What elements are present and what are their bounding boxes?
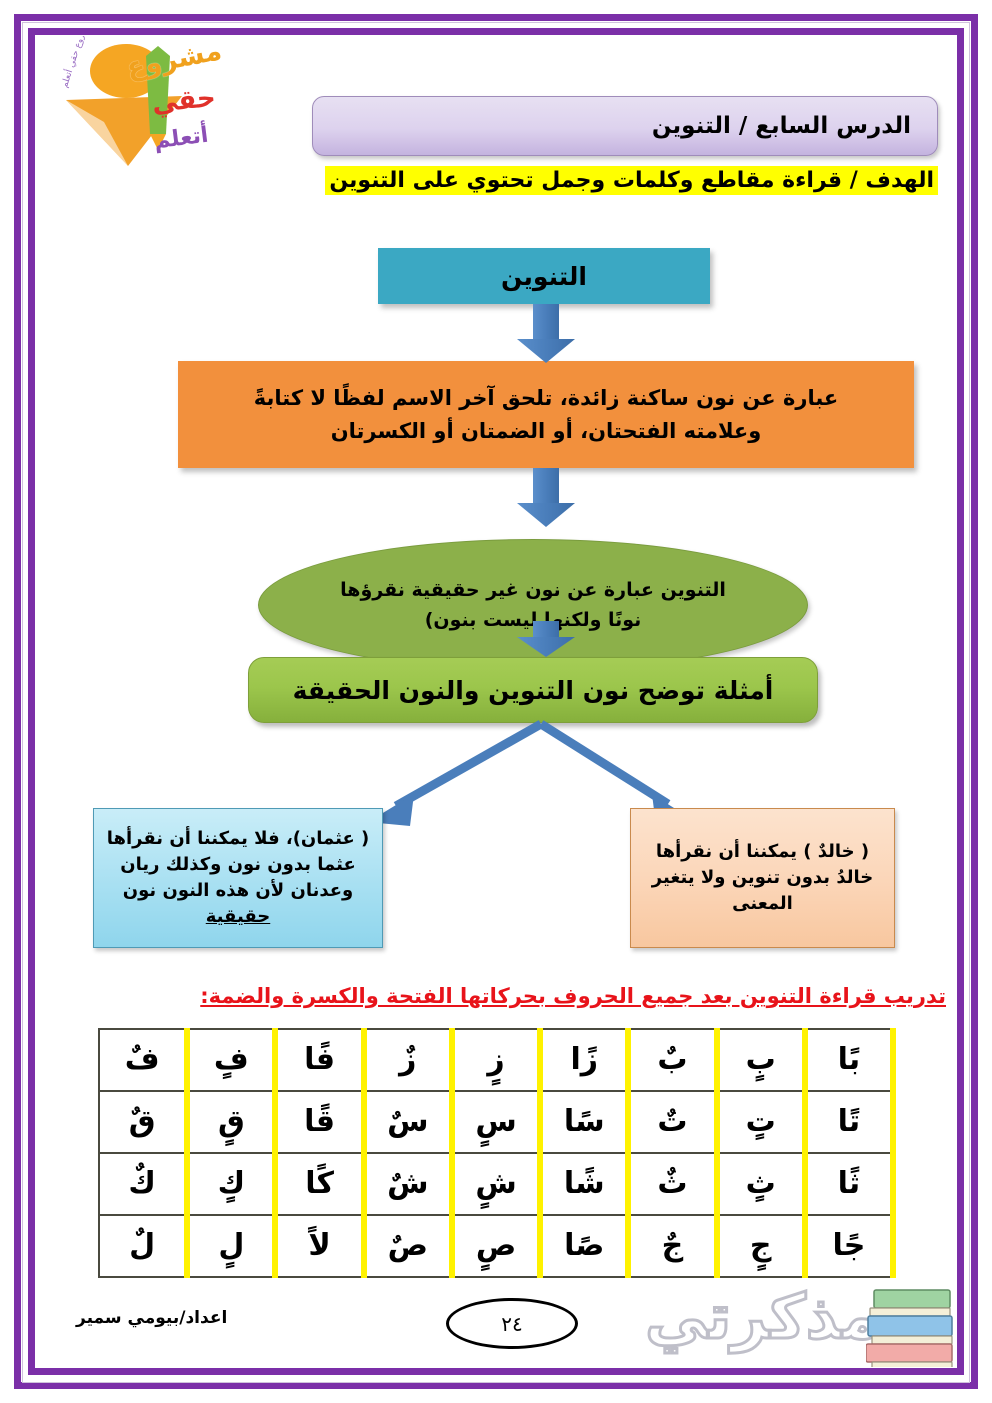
table-cell: بٍ — [717, 1029, 805, 1091]
example-left-line-2: عثما بدون نون وكذلك ريان — [120, 852, 355, 878]
table-cell: قٌ — [99, 1091, 187, 1153]
table-cell: جًا — [805, 1215, 893, 1277]
table-cell: قًا — [275, 1091, 363, 1153]
example-left-line-1: ( عثمان)، فلا يمكننا أن نقرأها — [107, 826, 370, 852]
letter-glyph: بٍ — [746, 1045, 776, 1075]
table-cell: فٌ — [99, 1029, 187, 1091]
books-stack-icon — [866, 1284, 956, 1367]
table-cell: صٌ — [364, 1215, 452, 1277]
watermark: مذكرتي — [656, 1274, 956, 1367]
example-left-line-3: وعدنان لأن هذه النون نون — [123, 878, 353, 904]
table-cell: سٌ — [364, 1091, 452, 1153]
arrow-down-2 — [517, 468, 575, 527]
letter-glyph: زٍ — [487, 1045, 504, 1075]
letter-glyph: شٍ — [475, 1169, 516, 1199]
letter-glyph: بٌ — [657, 1045, 687, 1075]
table-cell: فٍ — [187, 1029, 275, 1091]
letter-glyph: سًا — [564, 1107, 605, 1137]
letter-glyph: فٍ — [214, 1045, 249, 1075]
example-box-real-noon: ( عثمان)، فلا يمكننا أن نقرأها عثما بدون… — [93, 808, 383, 948]
ellipse-line-1: التنوين عبارة عن نون غير حقيقية نقرؤها — [340, 575, 726, 605]
flow-header-label: التنوين — [501, 262, 587, 291]
page-content: مشروع حقي أتعلم مشروع حقي أتعلم الدرس ال… — [36, 36, 956, 1367]
table-cell: زٍ — [452, 1029, 540, 1091]
letter-glyph: زًا — [570, 1045, 598, 1075]
letter-glyph: جٌ — [662, 1231, 684, 1261]
letter-glyph: تٌ — [657, 1107, 687, 1137]
example-right-line-2: خالدُ بدون تنوين ولا يتغير — [652, 865, 873, 891]
table-cell: كٍ — [187, 1153, 275, 1215]
table-cell: كٌ — [99, 1153, 187, 1215]
letter-glyph: صٌ — [388, 1231, 428, 1261]
table-cell: شًا — [540, 1153, 628, 1215]
tanween-practice-table: بًا بٍ بٌ زًا زٍ زٌ فًا فٍ فٌ تًا تٍ تٌ … — [98, 1028, 896, 1278]
letter-glyph: كٍ — [218, 1169, 246, 1199]
table-cell: زًا — [540, 1029, 628, 1091]
letter-glyph: لٌ — [129, 1231, 155, 1261]
table-cell: بٌ — [628, 1029, 716, 1091]
letter-glyph: تًا — [838, 1107, 861, 1137]
table-cell: لاً — [275, 1215, 363, 1277]
table-cell: تٌ — [628, 1091, 716, 1153]
table-cell: ثًا — [805, 1153, 893, 1215]
table-cell: ثٍ — [717, 1153, 805, 1215]
letter-glyph: زٌ — [399, 1045, 416, 1075]
table-row: ثًا ثٍ ثٌ شًا شٍ شٌ كًا كٍ كٌ — [99, 1153, 893, 1215]
table-cell: بًا — [805, 1029, 893, 1091]
example-right-line-1: ( خالدٌ ) يمكننا أن نقرأها — [656, 839, 869, 865]
lesson-title-text: الدرس السابع / التنوين — [652, 113, 911, 139]
example-box-tanween: ( خالدٌ ) يمكننا أن نقرأها خالدُ بدون تن… — [630, 808, 895, 948]
table-cell: لٌ — [99, 1215, 187, 1277]
letter-glyph: سٍ — [475, 1107, 516, 1137]
table-cell: جٍ — [717, 1215, 805, 1277]
table-cell: تٍ — [717, 1091, 805, 1153]
watermark-text: مذكرتي — [645, 1280, 880, 1353]
letter-glyph: لٍ — [218, 1231, 244, 1261]
letter-glyph: كٌ — [128, 1169, 156, 1199]
lesson-title-bar: الدرس السابع / التنوين — [312, 96, 938, 156]
example-right-line-3: المعنى — [732, 891, 793, 917]
table-cell: جٌ — [628, 1215, 716, 1277]
table-cell: سًا — [540, 1091, 628, 1153]
flow-examples-header-label: أمثلة توضح نون التنوين والنون الحقيقة — [293, 676, 774, 705]
letter-glyph: بًا — [838, 1045, 861, 1075]
arrow-down-1 — [517, 304, 575, 363]
letter-glyph: تٍ — [746, 1107, 776, 1137]
practice-heading-text: تدريب قراءة التنوين بعد جميع الحروف بحرك… — [200, 984, 946, 1008]
table-cell: تًا — [805, 1091, 893, 1153]
letter-glyph: لاً — [308, 1231, 330, 1261]
flow-definition-box: عبارة عن نون ساكنة زائدة، تلحق آخر الاسم… — [178, 361, 914, 468]
letter-glyph: شًا — [564, 1169, 605, 1199]
letter-glyph: ثٌ — [657, 1169, 687, 1199]
project-logo: مشروع حقي أتعلم مشروع حقي أتعلم — [54, 38, 224, 170]
letter-glyph: قًا — [304, 1107, 335, 1137]
table-cell: صًا — [540, 1215, 628, 1277]
table-row: بًا بٍ بٌ زًا زٍ زٌ فًا فٍ فٌ — [99, 1029, 893, 1091]
page-number-badge: ٢٤ — [446, 1298, 578, 1349]
lesson-goal-row: الهدف / قراءة مقاطع وكلمات وجمل تحتوي عل… — [36, 164, 956, 197]
letter-glyph: جٍ — [750, 1231, 772, 1261]
table-cell: صٍ — [452, 1215, 540, 1277]
letter-glyph: سٌ — [387, 1107, 428, 1137]
table-cell: لٍ — [187, 1215, 275, 1277]
letter-glyph: صًا — [564, 1231, 604, 1261]
letter-glyph: كًا — [305, 1169, 334, 1199]
table-cell: ثٌ — [628, 1153, 716, 1215]
letter-glyph: ثًا — [838, 1169, 861, 1199]
table-cell: شٌ — [364, 1153, 452, 1215]
arrow-branch-left — [368, 724, 541, 826]
table-cell: شٍ — [452, 1153, 540, 1215]
table-row: جًا جٍ جٌ صًا صٍ صٌ لاً لٍ لٌ — [99, 1215, 893, 1277]
definition-line-2: وعلامته الفتحتان، أو الضمتان أو الكسرتان — [317, 415, 776, 448]
flow-header-box: التنوين — [378, 248, 710, 304]
table-cell: زٌ — [364, 1029, 452, 1091]
ellipse-line-2: نونًا ولكنها ليست بنون) — [425, 605, 642, 635]
letter-glyph: صٍ — [476, 1231, 516, 1261]
table-row: تًا تٍ تٌ سًا سٍ سٌ قًا قٍ قٌ — [99, 1091, 893, 1153]
letter-glyph: ثٍ — [746, 1169, 776, 1199]
letter-glyph: شٌ — [387, 1169, 428, 1199]
table-cell: قٍ — [187, 1091, 275, 1153]
letter-glyph: جًا — [832, 1231, 865, 1261]
flow-examples-header-box: أمثلة توضح نون التنوين والنون الحقيقة — [248, 657, 818, 723]
flow-ellipse-box: التنوين عبارة عن نون غير حقيقية نقرؤها ن… — [258, 539, 808, 671]
practice-heading: تدريب قراءة التنوين بعد جميع الحروف بحرك… — [36, 984, 956, 1008]
lesson-goal-text: الهدف / قراءة مقاطع وكلمات وجمل تحتوي عل… — [325, 166, 938, 195]
tanween-table-body: بًا بٍ بٌ زًا زٍ زٌ فًا فٍ فٌ تًا تٍ تٌ … — [99, 1029, 893, 1277]
letter-glyph: فٌ — [125, 1045, 160, 1075]
letter-glyph: فًا — [304, 1045, 335, 1075]
example-left-line-4: حقيقية — [206, 904, 271, 930]
table-cell: كًا — [275, 1153, 363, 1215]
table-cell: سٍ — [452, 1091, 540, 1153]
letter-glyph: قٌ — [129, 1107, 156, 1137]
table-cell: فًا — [275, 1029, 363, 1091]
page-number-text: ٢٤ — [501, 1312, 522, 1336]
definition-line-1: عبارة عن نون ساكنة زائدة، تلحق آخر الاسم… — [240, 382, 853, 415]
letter-glyph: قٍ — [218, 1107, 245, 1137]
author-credit: اعداد/بيومي سمير — [76, 1308, 227, 1328]
